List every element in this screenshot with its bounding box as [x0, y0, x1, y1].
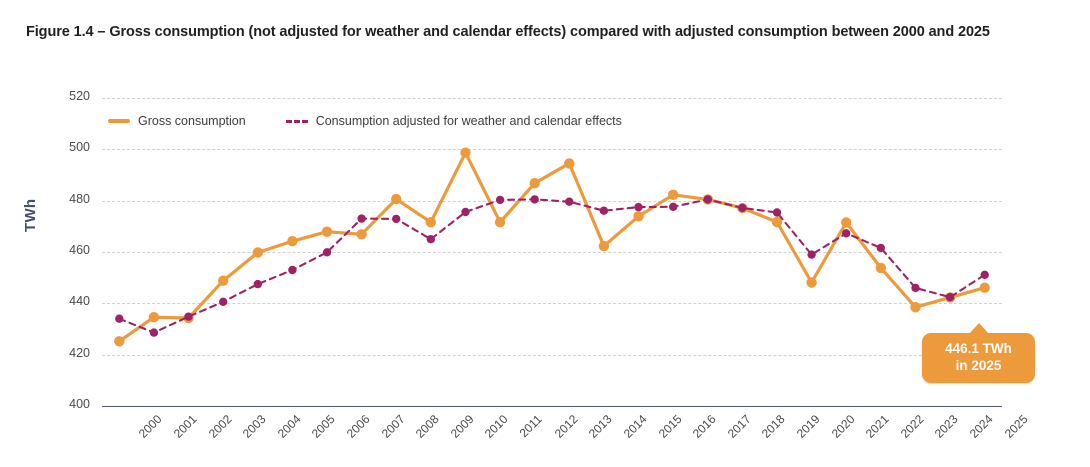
data-point-gross[interactable]: [599, 241, 609, 251]
series-line-adjusted: [119, 199, 984, 332]
data-point-adjusted[interactable]: [184, 313, 192, 321]
legend-solid-line-icon: [108, 119, 130, 123]
data-point-adjusted[interactable]: [496, 196, 504, 204]
data-point-gross[interactable]: [426, 217, 436, 227]
data-point-adjusted[interactable]: [600, 207, 608, 215]
data-point-adjusted[interactable]: [150, 328, 158, 336]
data-point-adjusted[interactable]: [427, 235, 435, 243]
data-point-gross[interactable]: [668, 190, 678, 200]
data-point-gross[interactable]: [495, 217, 505, 227]
data-point-gross[interactable]: [253, 247, 263, 257]
data-point-gross[interactable]: [391, 194, 401, 204]
data-point-gross[interactable]: [356, 229, 366, 239]
data-point-adjusted[interactable]: [219, 298, 227, 306]
plot-series-svg: [0, 0, 1090, 467]
legend-dashed-line-icon: [286, 120, 308, 123]
chart-legend: Gross consumption Consumption adjusted f…: [108, 114, 622, 128]
data-point-gross[interactable]: [876, 263, 886, 273]
data-point-adjusted[interactable]: [323, 248, 331, 256]
data-point-adjusted[interactable]: [669, 203, 677, 211]
data-point-gross[interactable]: [218, 276, 228, 286]
data-point-adjusted[interactable]: [392, 215, 400, 223]
data-point-adjusted[interactable]: [704, 195, 712, 203]
data-point-gross[interactable]: [460, 148, 470, 158]
data-point-adjusted[interactable]: [565, 198, 573, 206]
data-point-gross[interactable]: [322, 227, 332, 237]
callout-year: in 2025: [922, 357, 1035, 374]
data-point-gross[interactable]: [980, 283, 990, 293]
data-point-gross[interactable]: [564, 158, 574, 168]
legend-item-gross-consumption[interactable]: Gross consumption: [108, 114, 246, 128]
data-point-gross[interactable]: [633, 211, 643, 221]
data-point-adjusted[interactable]: [254, 280, 262, 288]
data-point-gross[interactable]: [841, 217, 851, 227]
data-point-adjusted[interactable]: [461, 208, 469, 216]
data-point-gross[interactable]: [114, 336, 124, 346]
data-point-adjusted[interactable]: [634, 203, 642, 211]
data-point-adjusted[interactable]: [807, 250, 815, 258]
data-point-adjusted[interactable]: [357, 214, 365, 222]
data-point-gross[interactable]: [530, 178, 540, 188]
data-point-gross[interactable]: [806, 277, 816, 287]
data-point-gross[interactable]: [910, 302, 920, 312]
data-point-adjusted[interactable]: [773, 208, 781, 216]
data-point-adjusted[interactable]: [115, 315, 123, 323]
series-line-gross: [119, 153, 984, 342]
data-point-adjusted[interactable]: [877, 244, 885, 252]
data-point-adjusted[interactable]: [738, 204, 746, 212]
data-point-gross[interactable]: [287, 236, 297, 246]
chart-canvas: TWh 400420440460480500520 20002001200220…: [0, 0, 1090, 467]
data-point-adjusted[interactable]: [531, 195, 539, 203]
data-point-adjusted[interactable]: [911, 284, 919, 292]
callout-value: 446.1 TWh: [922, 340, 1035, 357]
legend-item-adjusted-consumption[interactable]: Consumption adjusted for weather and cal…: [286, 114, 622, 128]
data-point-adjusted[interactable]: [981, 271, 989, 279]
data-point-adjusted[interactable]: [946, 293, 954, 301]
data-point-adjusted[interactable]: [842, 229, 850, 237]
data-point-adjusted[interactable]: [288, 266, 296, 274]
legend-label-adjusted: Consumption adjusted for weather and cal…: [316, 114, 622, 128]
legend-label-gross: Gross consumption: [138, 114, 246, 128]
data-point-gross[interactable]: [149, 312, 159, 322]
value-callout-2025: 446.1 TWh in 2025: [922, 333, 1035, 383]
